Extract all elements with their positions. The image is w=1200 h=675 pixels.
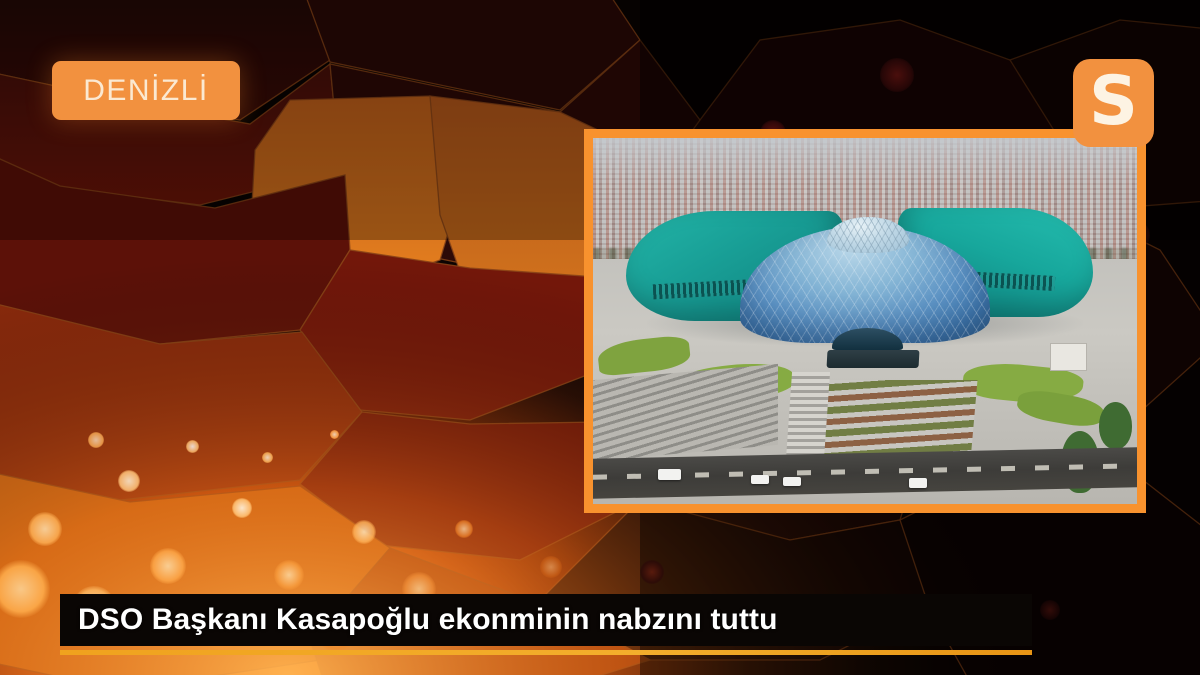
photo-kiosk (1050, 343, 1087, 371)
photo-vehicle (909, 478, 927, 488)
headline-text: DSO Başkanı Kasapoğlu ekonminin nabzını … (60, 603, 778, 637)
article-photo-frame (584, 129, 1146, 513)
photo-terraced-steps (593, 364, 778, 461)
news-card: DENİZLİ S (0, 0, 1200, 675)
city-badge-label: DENİZLİ (83, 74, 209, 108)
city-badge: DENİZLİ (52, 61, 240, 120)
photo-tree-right-2 (1099, 402, 1132, 450)
article-photo (593, 138, 1137, 504)
photo-plaza-feature (826, 350, 919, 368)
photo-central-stairs (786, 372, 830, 460)
brand-logo-glyph: S (1089, 68, 1138, 136)
photo-vehicle (751, 475, 769, 485)
headline-underline (60, 650, 1032, 655)
photo-planting-beds (807, 380, 977, 461)
headline-bar: DSO Başkanı Kasapoğlu ekonminin nabzını … (60, 594, 1032, 646)
photo-vehicle (783, 477, 800, 487)
brand-s-logo[interactable]: S (1073, 59, 1154, 147)
photo-vehicle (658, 469, 681, 480)
